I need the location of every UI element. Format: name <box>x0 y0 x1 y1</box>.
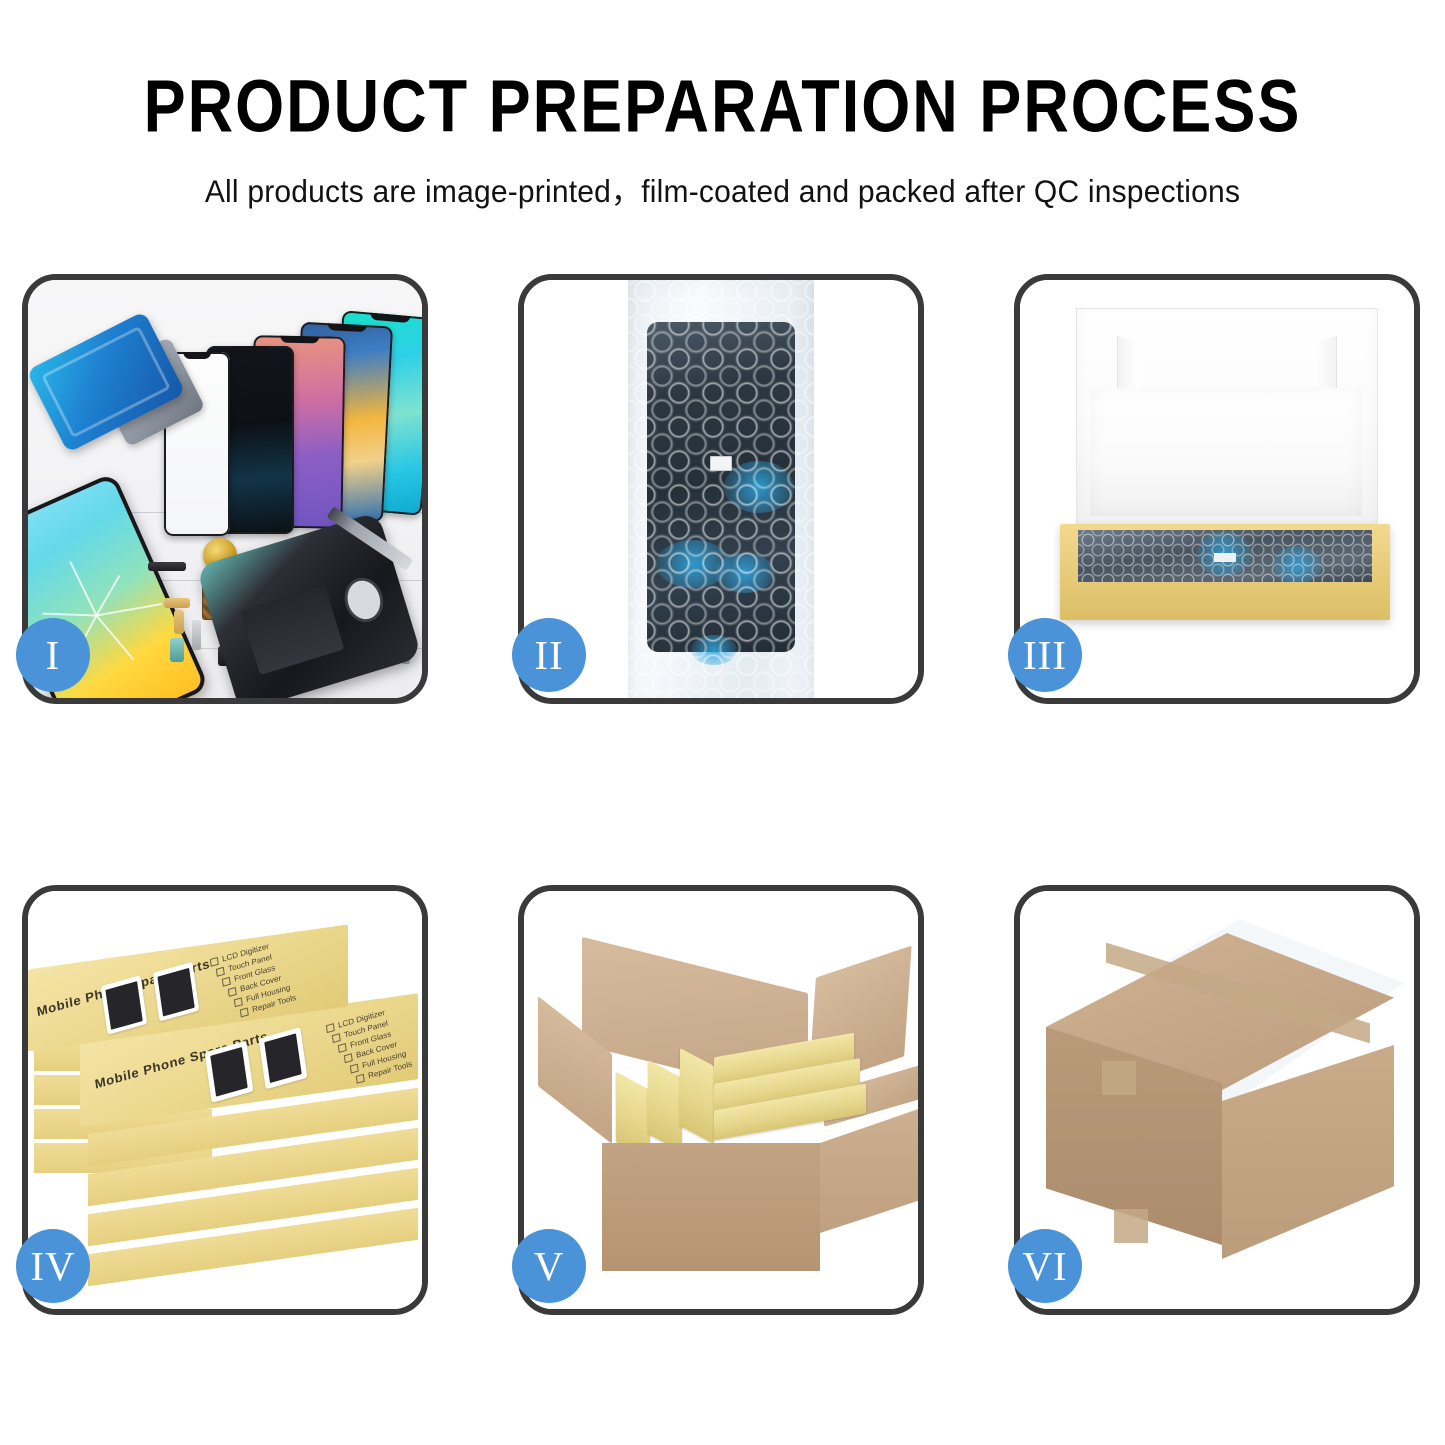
process-step-2[interactable]: II <box>518 274 924 704</box>
spare-parts-photo <box>28 280 422 698</box>
page-title: PRODUCT PREPARATION PROCESS <box>0 68 1445 146</box>
step-badge-5: V <box>512 1229 586 1303</box>
process-step-3[interactable]: III <box>1014 274 1420 704</box>
open-mailer-box-photo <box>1020 280 1414 698</box>
page-subtitle: All products are image-printed，film-coat… <box>0 165 1445 212</box>
step-badge-1: I <box>16 618 90 692</box>
process-step-1[interactable]: I <box>22 274 428 704</box>
process-step-grid: I II <box>22 274 1423 1315</box>
stacked-retail-boxes-photo: Mobile Phone Spare Parts LCD Digitizer T… <box>28 891 422 1309</box>
sealed-shipping-carton-photo <box>1020 891 1414 1309</box>
bubble-wrapped-screen-photo <box>524 280 918 698</box>
header: PRODUCT PREPARATION PROCESS All products… <box>0 0 1445 210</box>
process-step-6[interactable]: VI <box>1014 885 1420 1315</box>
step-badge-2: II <box>512 618 586 692</box>
step-badge-6: VI <box>1008 1229 1082 1303</box>
process-step-4[interactable]: Mobile Phone Spare Parts LCD Digitizer T… <box>22 885 428 1315</box>
process-step-5[interactable]: V <box>518 885 924 1315</box>
open-shipping-carton-photo <box>524 891 918 1309</box>
step-badge-3: III <box>1008 618 1082 692</box>
step-badge-4: IV <box>16 1229 90 1303</box>
